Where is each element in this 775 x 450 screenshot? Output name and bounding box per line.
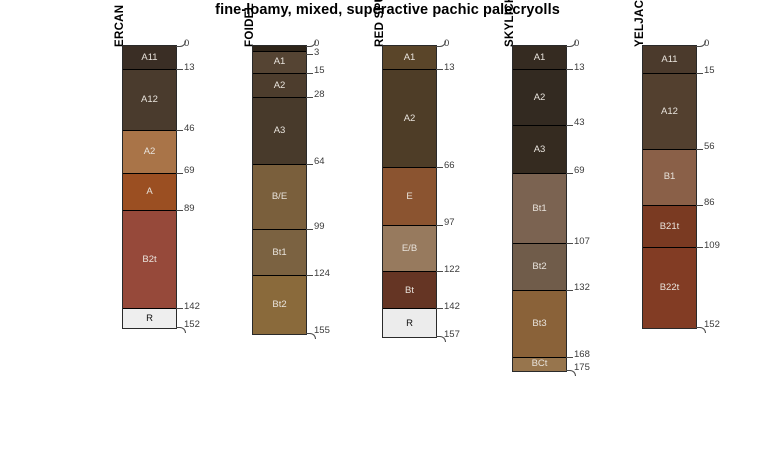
horizon-label: A3 (274, 126, 286, 136)
profile-column: A1A2A3Bt1Bt2Bt3BCt (512, 45, 567, 372)
profile-name-label: RED SPUR (374, 0, 386, 47)
tick-value: 157 (444, 330, 460, 340)
horizon-layer: A12 (643, 74, 696, 150)
horizon-layer: Bt3 (513, 291, 566, 358)
horizon-layer: Bt (383, 272, 436, 309)
tick-mark (566, 357, 573, 358)
tick-value: 142 (444, 302, 460, 312)
profile-column: A1A2A3B/EBt1Bt2 (252, 45, 307, 335)
tick-value: 0 (184, 39, 189, 49)
horizon-label: Bt2 (272, 300, 286, 310)
horizon-label: B22t (660, 283, 680, 293)
horizon-label: A11 (141, 53, 157, 63)
horizon-layer: BCt (513, 358, 566, 371)
tick-value: 168 (574, 350, 590, 360)
horizon-label: A12 (141, 95, 158, 105)
horizon-layer: Bt2 (253, 276, 306, 334)
horizon-label: A1 (404, 53, 416, 63)
horizon-layer: A3 (513, 126, 566, 174)
horizon-layer: B22t (643, 248, 696, 328)
horizon-label: R (406, 319, 413, 329)
depth-axis: 0136697122142157 (436, 0, 496, 450)
horizon-layer: A2 (253, 74, 306, 98)
tick-value: 13 (574, 63, 585, 73)
horizon-label: Bt2 (532, 262, 546, 272)
horizon-layer: E/B (383, 226, 436, 272)
tick-mark (176, 69, 183, 70)
tick-value: 66 (444, 161, 455, 171)
tick-value: 13 (444, 63, 455, 73)
horizon-label: Bt3 (532, 319, 546, 329)
tick-mark (566, 290, 573, 291)
horizon-label: B1 (664, 172, 676, 182)
tick-mark (436, 308, 443, 309)
tick-mark (306, 97, 313, 98)
horizon-layer: Bt1 (253, 230, 306, 276)
tick-mark (306, 54, 313, 55)
tick-value: 46 (184, 124, 195, 134)
horizon-layer: A1 (513, 46, 566, 70)
tick-value: 69 (184, 166, 195, 176)
horizon-layer: B1 (643, 150, 696, 206)
tick-value: 3 (314, 48, 319, 58)
tick-mark (176, 130, 183, 131)
depth-axis: 0315286499124155 (306, 0, 366, 450)
horizon-layer: E (383, 168, 436, 226)
horizon-layer: A1 (253, 52, 306, 74)
horizon-layer: A2 (383, 70, 436, 168)
tick-value: 56 (704, 142, 715, 152)
tick-mark (176, 173, 183, 174)
depth-axis: 0134369107132168175 (566, 0, 626, 450)
profile-column: A1A2EE/BBtR (382, 45, 437, 338)
horizon-layer: A11 (123, 46, 176, 70)
tick-mark (436, 225, 443, 226)
horizon-label: A2 (144, 147, 156, 157)
horizon-layer: A (123, 174, 176, 211)
horizon-label: A2 (274, 81, 286, 91)
horizon-layer: Bt2 (513, 244, 566, 290)
tick-mark (306, 164, 313, 165)
depth-axis: 0155686109152 (696, 0, 756, 450)
tick-value: 15 (314, 66, 325, 76)
profile-column: A11A12A2AB2tR (122, 45, 177, 329)
tick-value: 122 (444, 265, 460, 275)
tick-mark (436, 271, 443, 272)
horizon-label: Bt (405, 286, 414, 296)
horizon-label: R (146, 314, 153, 324)
tick-value: 107 (574, 237, 590, 247)
profile-column: A11A12B1B21tB22t (642, 45, 697, 329)
tick-value: 0 (444, 39, 449, 49)
horizon-layer: B/E (253, 165, 306, 230)
profile-name-label: ERCAN (114, 5, 126, 47)
profile-name-label: FOIDEL (244, 3, 256, 47)
horizon-label: A1 (534, 53, 546, 63)
tick-value: 142 (184, 302, 200, 312)
tick-mark (696, 247, 703, 248)
horizon-label: BCt (532, 359, 548, 369)
profile-name-label: SKYLICK (504, 0, 516, 47)
tick-mark (176, 308, 183, 309)
horizon-layer: B21t (643, 206, 696, 249)
tick-value: 132 (574, 283, 590, 293)
tick-value: 89 (184, 204, 195, 214)
tick-value: 152 (184, 320, 200, 330)
horizon-layer: A12 (123, 70, 176, 131)
horizon-label: A2 (404, 114, 416, 124)
horizon-layer: A11 (643, 46, 696, 74)
horizon-label: Bt1 (532, 204, 546, 214)
tick-mark (566, 69, 573, 70)
horizon-label: B21t (660, 222, 680, 232)
horizon-label: A11 (661, 55, 677, 65)
horizon-label: E (406, 192, 412, 202)
horizon-label: Bt1 (272, 248, 286, 258)
tick-value: 13 (184, 63, 195, 73)
tick-mark (306, 275, 313, 276)
horizon-layer: R (383, 309, 436, 337)
horizon-layer: A2 (513, 70, 566, 126)
tick-mark (566, 243, 573, 244)
tick-mark (696, 73, 703, 74)
tick-mark (306, 73, 313, 74)
profile-name-label: YELJACK (634, 0, 646, 47)
tick-value: 15 (704, 66, 715, 76)
horizon-layer: Bt1 (513, 174, 566, 244)
tick-mark (176, 210, 183, 211)
tick-mark (566, 173, 573, 174)
tick-mark (436, 167, 443, 168)
horizon-label: A2 (534, 93, 546, 103)
tick-value: 43 (574, 118, 585, 128)
horizon-label: B/E (272, 192, 287, 202)
horizon-label: A (146, 187, 152, 197)
horizon-layer: A1 (383, 46, 436, 70)
tick-value: 109 (704, 241, 720, 251)
depth-axis: 013466989142152 (176, 0, 236, 450)
tick-value: 99 (314, 222, 325, 232)
tick-mark (436, 69, 443, 70)
horizon-layer: R (123, 309, 176, 328)
horizon-label: A3 (534, 145, 546, 155)
horizon-layer: B2t (123, 211, 176, 309)
tick-value: 28 (314, 90, 325, 100)
tick-value: 155 (314, 326, 330, 336)
tick-value: 175 (574, 363, 590, 373)
tick-value: 124 (314, 269, 330, 279)
tick-mark (566, 125, 573, 126)
horizon-layer: A3 (253, 98, 306, 165)
tick-mark (696, 205, 703, 206)
tick-value: 97 (444, 218, 455, 228)
tick-value: 0 (574, 39, 579, 49)
tick-value: 64 (314, 157, 325, 167)
tick-mark (696, 149, 703, 150)
tick-mark (306, 229, 313, 230)
horizon-layer: A2 (123, 131, 176, 174)
soil-profile-plot: fine-loamy, mixed, superactive pachic pa… (0, 0, 775, 450)
tick-value: 0 (704, 39, 709, 49)
tick-value: 69 (574, 166, 585, 176)
horizon-label: A1 (274, 57, 286, 67)
horizon-label: B2t (142, 255, 156, 265)
horizon-label: A12 (661, 107, 678, 117)
tick-value: 86 (704, 198, 715, 208)
horizon-label: E/B (402, 244, 417, 254)
tick-value: 152 (704, 320, 720, 330)
